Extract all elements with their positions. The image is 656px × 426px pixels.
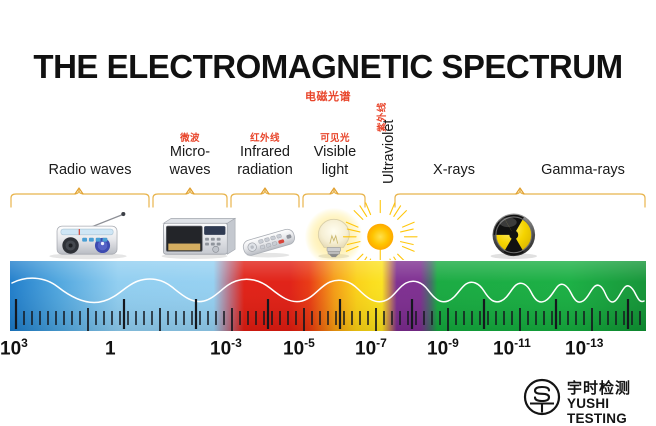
scale-tick-2-exponent: -3: [231, 336, 242, 350]
scale-tick-7-exponent: -13: [586, 336, 603, 350]
scale-tick-6-mantissa: 10: [493, 338, 514, 359]
remote-control-icon: [242, 228, 297, 257]
logo-text-chinese: 宇时检测: [567, 377, 631, 398]
brand-logo: 宇时检测 YUSHI TESTING: [523, 377, 648, 417]
scale-tick-6: 10-11: [493, 336, 531, 360]
band-label-microwaves-line2: waves: [150, 162, 230, 179]
scale-tick-1: 1: [105, 336, 116, 360]
spectrum-bar: [10, 261, 646, 331]
microwave-icon: [163, 218, 235, 254]
logo-text-english: YUSHI TESTING: [567, 396, 648, 426]
light-bulb-icon: [305, 208, 363, 260]
scale-tick-0-mantissa: 10: [0, 338, 21, 359]
circle-s-monogram-icon: [523, 378, 561, 416]
scale-tick-4-exponent: -7: [376, 336, 387, 350]
band-label-gamma-rays: Gamma-rays: [520, 162, 646, 179]
scale-tick-0-exponent: 3: [21, 336, 28, 350]
band-label-cn-infrared: 红外线: [222, 130, 308, 144]
scale-tick-3-mantissa: 10: [283, 338, 304, 359]
band-label-visible-light-line1: Visible: [304, 144, 366, 161]
band-label-microwaves-line1: Micro-: [150, 144, 230, 161]
scale-tick-2: 10-3: [210, 336, 242, 360]
scale-tick-4: 10-7: [355, 336, 387, 360]
band-label-visible-light-line2: light: [304, 162, 366, 179]
scale-tick-0: 103: [0, 336, 28, 360]
band-label-cn-visible-light: 可见光: [304, 130, 366, 144]
band-label-infrared-line2: radiation: [222, 162, 308, 179]
scale-tick-5-mantissa: 10: [427, 338, 448, 359]
radio-icon: [57, 212, 125, 254]
scale-tick-3: 10-5: [283, 336, 315, 360]
scale-tick-4-mantissa: 10: [355, 338, 376, 359]
wavelength-scale: 103 1 10-3 10-5 10-7 10-9 10-11 10-13: [0, 336, 656, 362]
band-label-infrared-line1: Infrared: [222, 144, 308, 161]
band-label-xrays: X-rays: [404, 162, 504, 179]
radiation-icon: [491, 214, 535, 257]
scale-tick-7-mantissa: 10: [565, 338, 586, 359]
page-subtitle-chinese: 电磁光谱: [0, 88, 656, 104]
electromagnetic-spectrum-infographic: THE ELECTROMAGNETIC SPECTRUM 电磁光谱 Radio …: [0, 0, 656, 423]
scale-tick-5-exponent: -9: [448, 336, 459, 350]
scale-tick-3-exponent: -5: [304, 336, 315, 350]
scale-tick-5: 10-9: [427, 336, 459, 360]
band-label-ultraviolet: Ultraviolet: [381, 120, 398, 184]
scale-tick-1-mantissa: 1: [105, 338, 116, 359]
scale-tick-6-exponent: -11: [514, 336, 531, 350]
band-label-radio-waves: Radio waves: [20, 162, 160, 179]
scale-tick-7: 10-13: [565, 336, 603, 360]
band-label-cn-microwaves: 微波: [150, 130, 230, 144]
scale-tick-2-mantissa: 10: [210, 338, 231, 359]
device-icons-row: [0, 200, 656, 260]
page-title: THE ELECTROMAGNETIC SPECTRUM: [0, 48, 656, 86]
